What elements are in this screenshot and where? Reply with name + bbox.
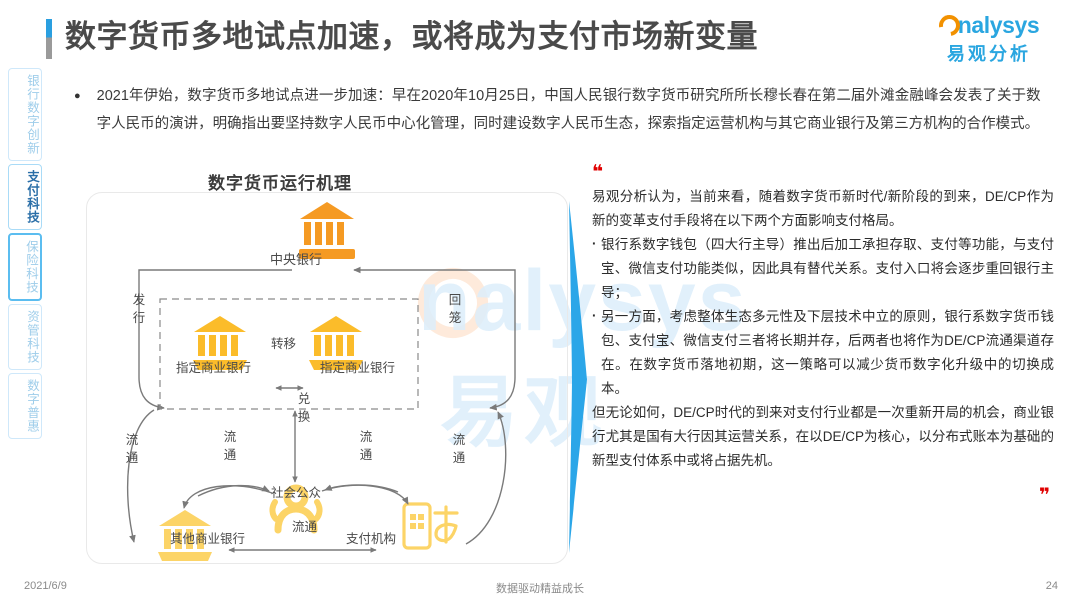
diagram-label-withdraw: 回笼 [448,291,462,327]
body-paragraph: 2021年伊始，数字货币多地试点进一步加速：早在2020年10月25日，中国人民… [97,82,1041,138]
quote-open-icon: ❝ [592,165,1054,179]
commentary-bullet-2: 另一方面，考虑整体生态多元性及下层技术中立的原则，银行系数字货币钱包、支付宝、微… [592,305,1054,401]
quote-close-wrap: ❝ [592,476,1054,497]
diagram-label-central-bank: 中央银行 [270,249,322,268]
title-bar: 数字货币多地试点加速，或将成为支付市场新变量 [46,16,758,59]
body-bullet-block: ● 2021年伊始，数字货币多地试点进一步加速：早在2020年10月25日，中国… [74,82,1054,138]
logo-wordmark: nalysys [958,12,1040,39]
sidebar-item-bank-digital-innovation[interactable]: 银行数字创新 [8,68,42,161]
quote-close-icon: ❝ [1038,478,1050,494]
diagram-graphic [86,192,568,564]
sidebar-item-asset-management-tech[interactable]: 资管科技 [8,304,42,370]
sidebar-nav: 银行数字创新 支付科技 保险科技 资管科技 数字普惠 [8,68,42,442]
diagram-label-payment-institution: 支付机构 [346,528,396,547]
sidebar-item-digital-inclusive-finance[interactable]: 数字普惠 [8,373,42,439]
diagram-label-circulate-bottom: 流通 [292,516,317,535]
diagram-label-circulate-right: 流通 [452,431,466,467]
bullet-icon: ● [74,82,81,110]
slide-footer: 2021/6/9 数据驱动精益成长 24 [0,580,1080,598]
sidebar-item-insurance-tech[interactable]: 保险科技 [8,233,42,301]
diagram-label-other-bank: 其他商业银行 [170,528,245,547]
diagram-label-issue: 发行 [132,291,146,327]
diagram-label-exchange: 兑换 [297,390,311,426]
footer-page-number: 24 [1046,580,1058,592]
commentary-bullet-1: 银行系数字钱包（四大行主导）推出后加工承担存取、支付等功能，与支付宝、微信支付功… [592,233,1054,305]
commentary-panel: ❝ 易观分析认为，当前来看，随着数字货币新时代/新阶段的到来，DE/CP作为新的… [592,165,1054,497]
diagram-label-transfer: 转移 [271,333,296,352]
diagram-label-public: 社会公众 [271,482,321,501]
commentary-bullet-list: 银行系数字钱包（四大行主导）推出后加工承担存取、支付等功能，与支付宝、微信支付功… [592,233,1054,401]
commentary-intro: 易观分析认为，当前来看，随着数字货币新时代/新阶段的到来，DE/CP作为新的变革… [592,185,1054,233]
diagram-title: 数字货币运行机理 [0,169,560,194]
payment-institution-icon [404,504,457,548]
commentary-closing: 但无论如何，DE/CP时代的到来对支付行业都是一次重新开局的机会，商业银行尤其是… [592,401,1054,473]
diagram-label-designated-bank-right: 指定商业银行 [320,357,395,376]
footer-slogan: 数据驱动精益成长 [0,580,1080,596]
logo-chinese-name: 易观分析 [924,40,1054,66]
diagram-label-circulate-mid-right: 流通 [359,428,373,464]
slide-canvas: nalysys 易观 数字货币多地试点加速，或将成为支付市场新变量 nalysy… [0,0,1080,608]
analysys-logo: nalysys 易观分析 [924,12,1054,66]
diagram-label-designated-bank-left: 指定商业银行 [176,357,251,376]
blade-divider [556,193,590,561]
title-accent-bar [46,19,52,59]
diagram-label-circulate-left: 流通 [125,431,139,467]
diagram-label-circulate-mid-left: 流通 [223,428,237,464]
page-title: 数字货币多地试点加速，或将成为支付市场新变量 [65,16,758,58]
